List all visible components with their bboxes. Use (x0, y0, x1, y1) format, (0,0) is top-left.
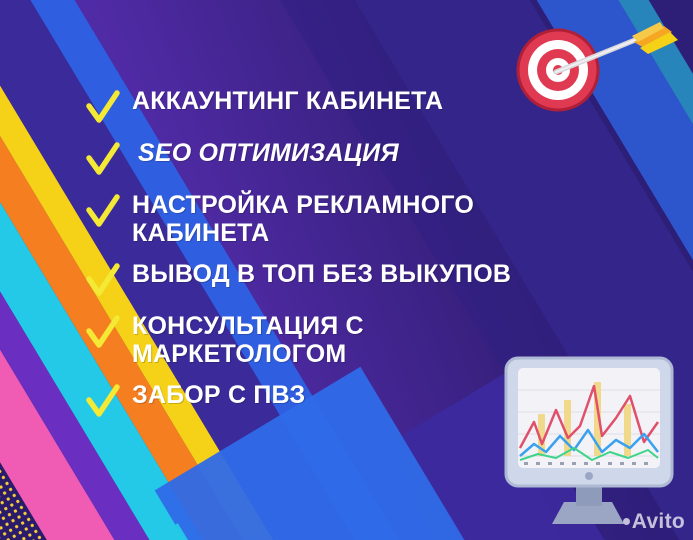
check-icon (86, 315, 120, 351)
list-item: НАСТРОЙКА РЕКЛАМНОГО КАБИНЕТА (86, 192, 646, 247)
list-item-label: АККАУНТИНГ КАБИНЕТА (132, 88, 443, 116)
list-item: SEO ОПТИМИЗАЦИЯ (86, 140, 646, 178)
poster: АККАУНТИНГ КАБИНЕТА SEO ОПТИМИЗАЦИЯ НАСТ… (0, 0, 693, 540)
check-icon (86, 263, 120, 299)
check-icon (86, 384, 120, 420)
list-item-label: НАСТРОЙКА РЕКЛАМНОГО КАБИНЕТА (132, 192, 562, 247)
monitor-with-chart-icon (498, 352, 678, 532)
watermark-dot-icon (623, 518, 630, 525)
list-item-label: КОНСУЛЬТАЦИЯ С МАРКЕТОЛОГОМ (132, 313, 462, 368)
avito-watermark: Avito (623, 510, 685, 534)
list-item: ВЫВОД В ТОП БЕЗ ВЫКУПОВ (86, 261, 646, 299)
list-item-label: SEO ОПТИМИЗАЦИЯ (132, 140, 399, 168)
list-item-label: ВЫВОД В ТОП БЕЗ ВЫКУПОВ (132, 261, 511, 289)
list-item: АККАУНТИНГ КАБИНЕТА (86, 88, 646, 126)
watermark-label: Avito (632, 510, 685, 533)
check-icon (86, 90, 120, 126)
list-item-label: ЗАБОР С ПВЗ (132, 382, 305, 410)
check-icon (86, 142, 120, 178)
check-icon (86, 194, 120, 230)
